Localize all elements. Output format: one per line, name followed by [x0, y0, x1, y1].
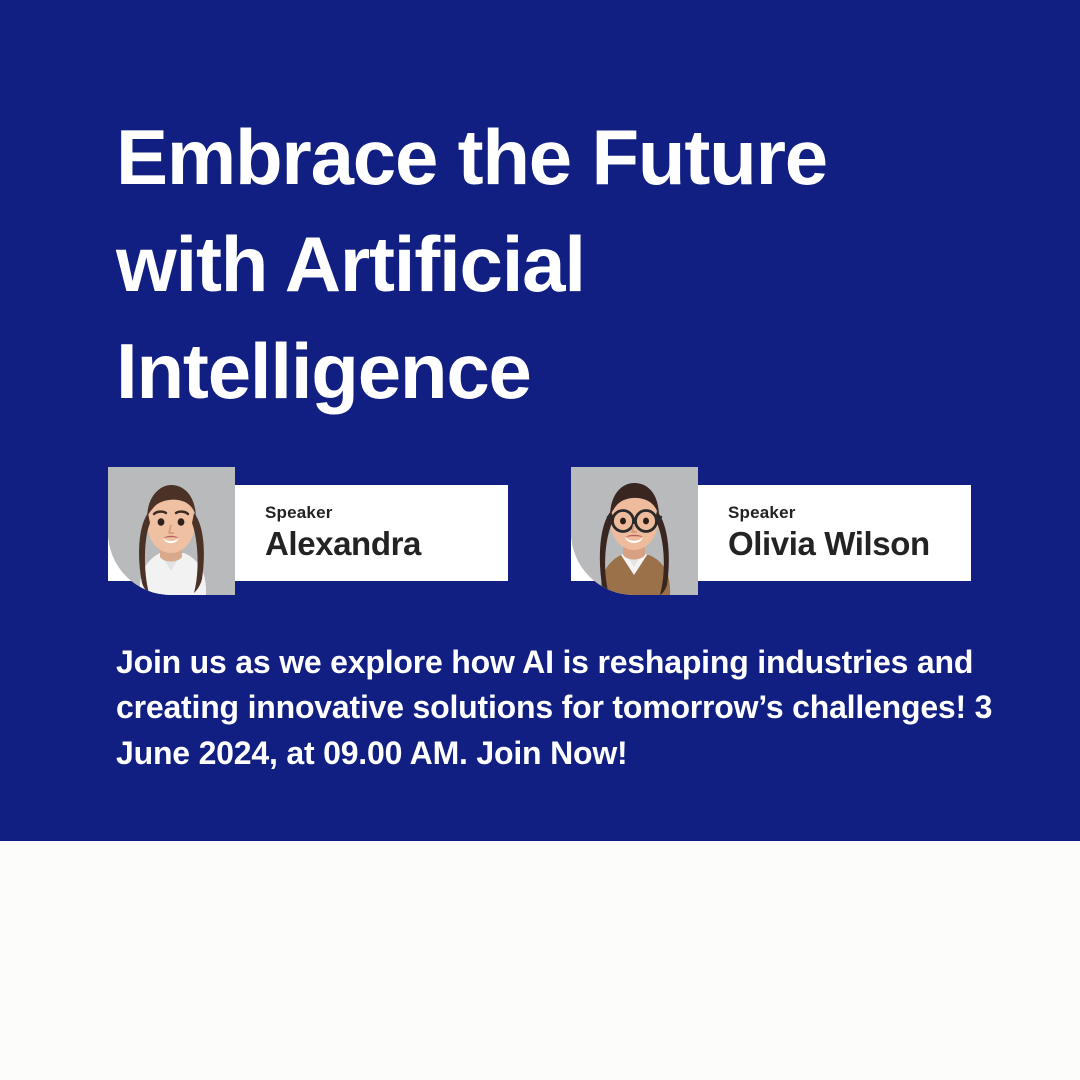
page-title: Embrace the Future with Artificial Intel…	[116, 104, 1016, 425]
event-poster: Embrace the Future with Artificial Intel…	[0, 0, 1080, 1080]
speaker-role-label: Speaker	[265, 503, 508, 523]
speaker-avatar	[571, 467, 698, 595]
event-description: Join us as we explore how AI is reshapin…	[116, 640, 996, 776]
speaker-avatar	[108, 467, 235, 595]
footer-bar: Capcut Free Registration! Follow our soc…	[0, 841, 1080, 1080]
speaker-name: Alexandra	[265, 525, 508, 563]
speaker-list: Speaker Alexandra	[0, 467, 1080, 602]
hero-panel: Embrace the Future with Artificial Intel…	[0, 0, 1080, 841]
speaker-name: Olivia Wilson	[728, 525, 971, 563]
speaker-role-label: Speaker	[728, 503, 971, 523]
